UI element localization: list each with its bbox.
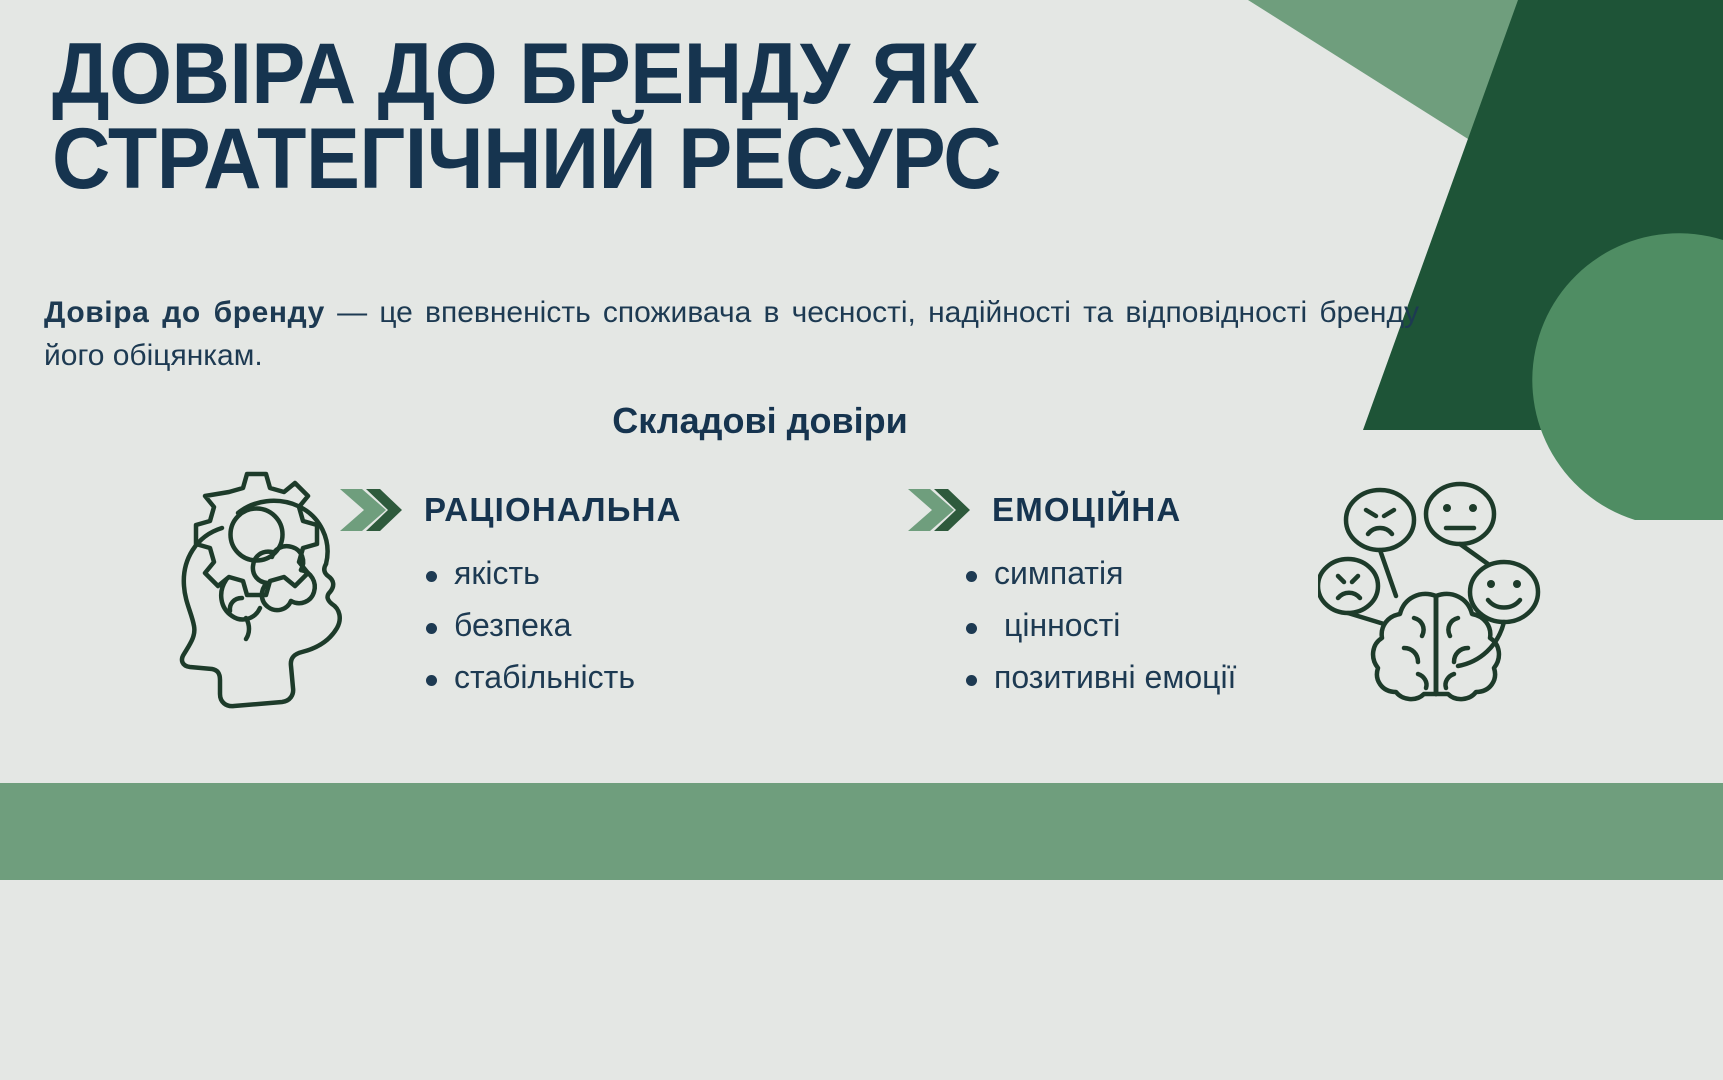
category-row-emotional: ЕМОЦІЙНА	[908, 487, 1428, 533]
intro-bold-term: Довіра до бренду	[44, 296, 325, 329]
slide-canvas: ДОВІРА ДО БРЕНДУ ЯК СТРАТЕГІЧНИЙ РЕСУРС …	[0, 0, 1723, 1080]
bottom-green-band	[0, 783, 1723, 880]
column-emotional: ЕМОЦІЙНА симпатія цінності позитивні емо…	[908, 487, 1428, 711]
bullet-list-emotional: симпатія цінності позитивні емоції	[960, 555, 1428, 696]
page-title: ДОВІРА ДО БРЕНДУ ЯК СТРАТЕГІЧНИЙ РЕСУРС	[52, 32, 1161, 202]
head-gear-brain-icon	[126, 468, 351, 718]
bullet-list-rational: якість безпека стабільність	[420, 555, 860, 696]
list-item: цінності	[960, 607, 1428, 644]
list-item: стабільність	[420, 659, 860, 696]
category-row-rational: РАЦІОНАЛЬНА	[340, 487, 860, 533]
category-label-rational: РАЦІОНАЛЬНА	[424, 491, 682, 529]
list-item: позитивні емоції	[960, 659, 1428, 696]
section-heading: Складові довіри	[0, 400, 1520, 442]
bottom-footer-area	[0, 880, 1723, 1080]
title-line-2: СТРАТЕГІЧНИЙ РЕСУРС	[52, 117, 1161, 202]
double-chevron-icon	[340, 487, 402, 533]
list-item: симпатія	[960, 555, 1428, 592]
list-item: якість	[420, 555, 860, 592]
category-label-emotional: ЕМОЦІЙНА	[992, 491, 1181, 529]
intro-paragraph: Довіра до бренду — це впевненість спожив…	[44, 292, 1419, 377]
list-item: безпека	[420, 607, 860, 644]
double-chevron-icon	[908, 487, 970, 533]
title-line-1: ДОВІРА ДО БРЕНДУ ЯК	[52, 32, 1161, 117]
column-rational: РАЦІОНАЛЬНА якість безпека стабільність	[340, 487, 860, 711]
